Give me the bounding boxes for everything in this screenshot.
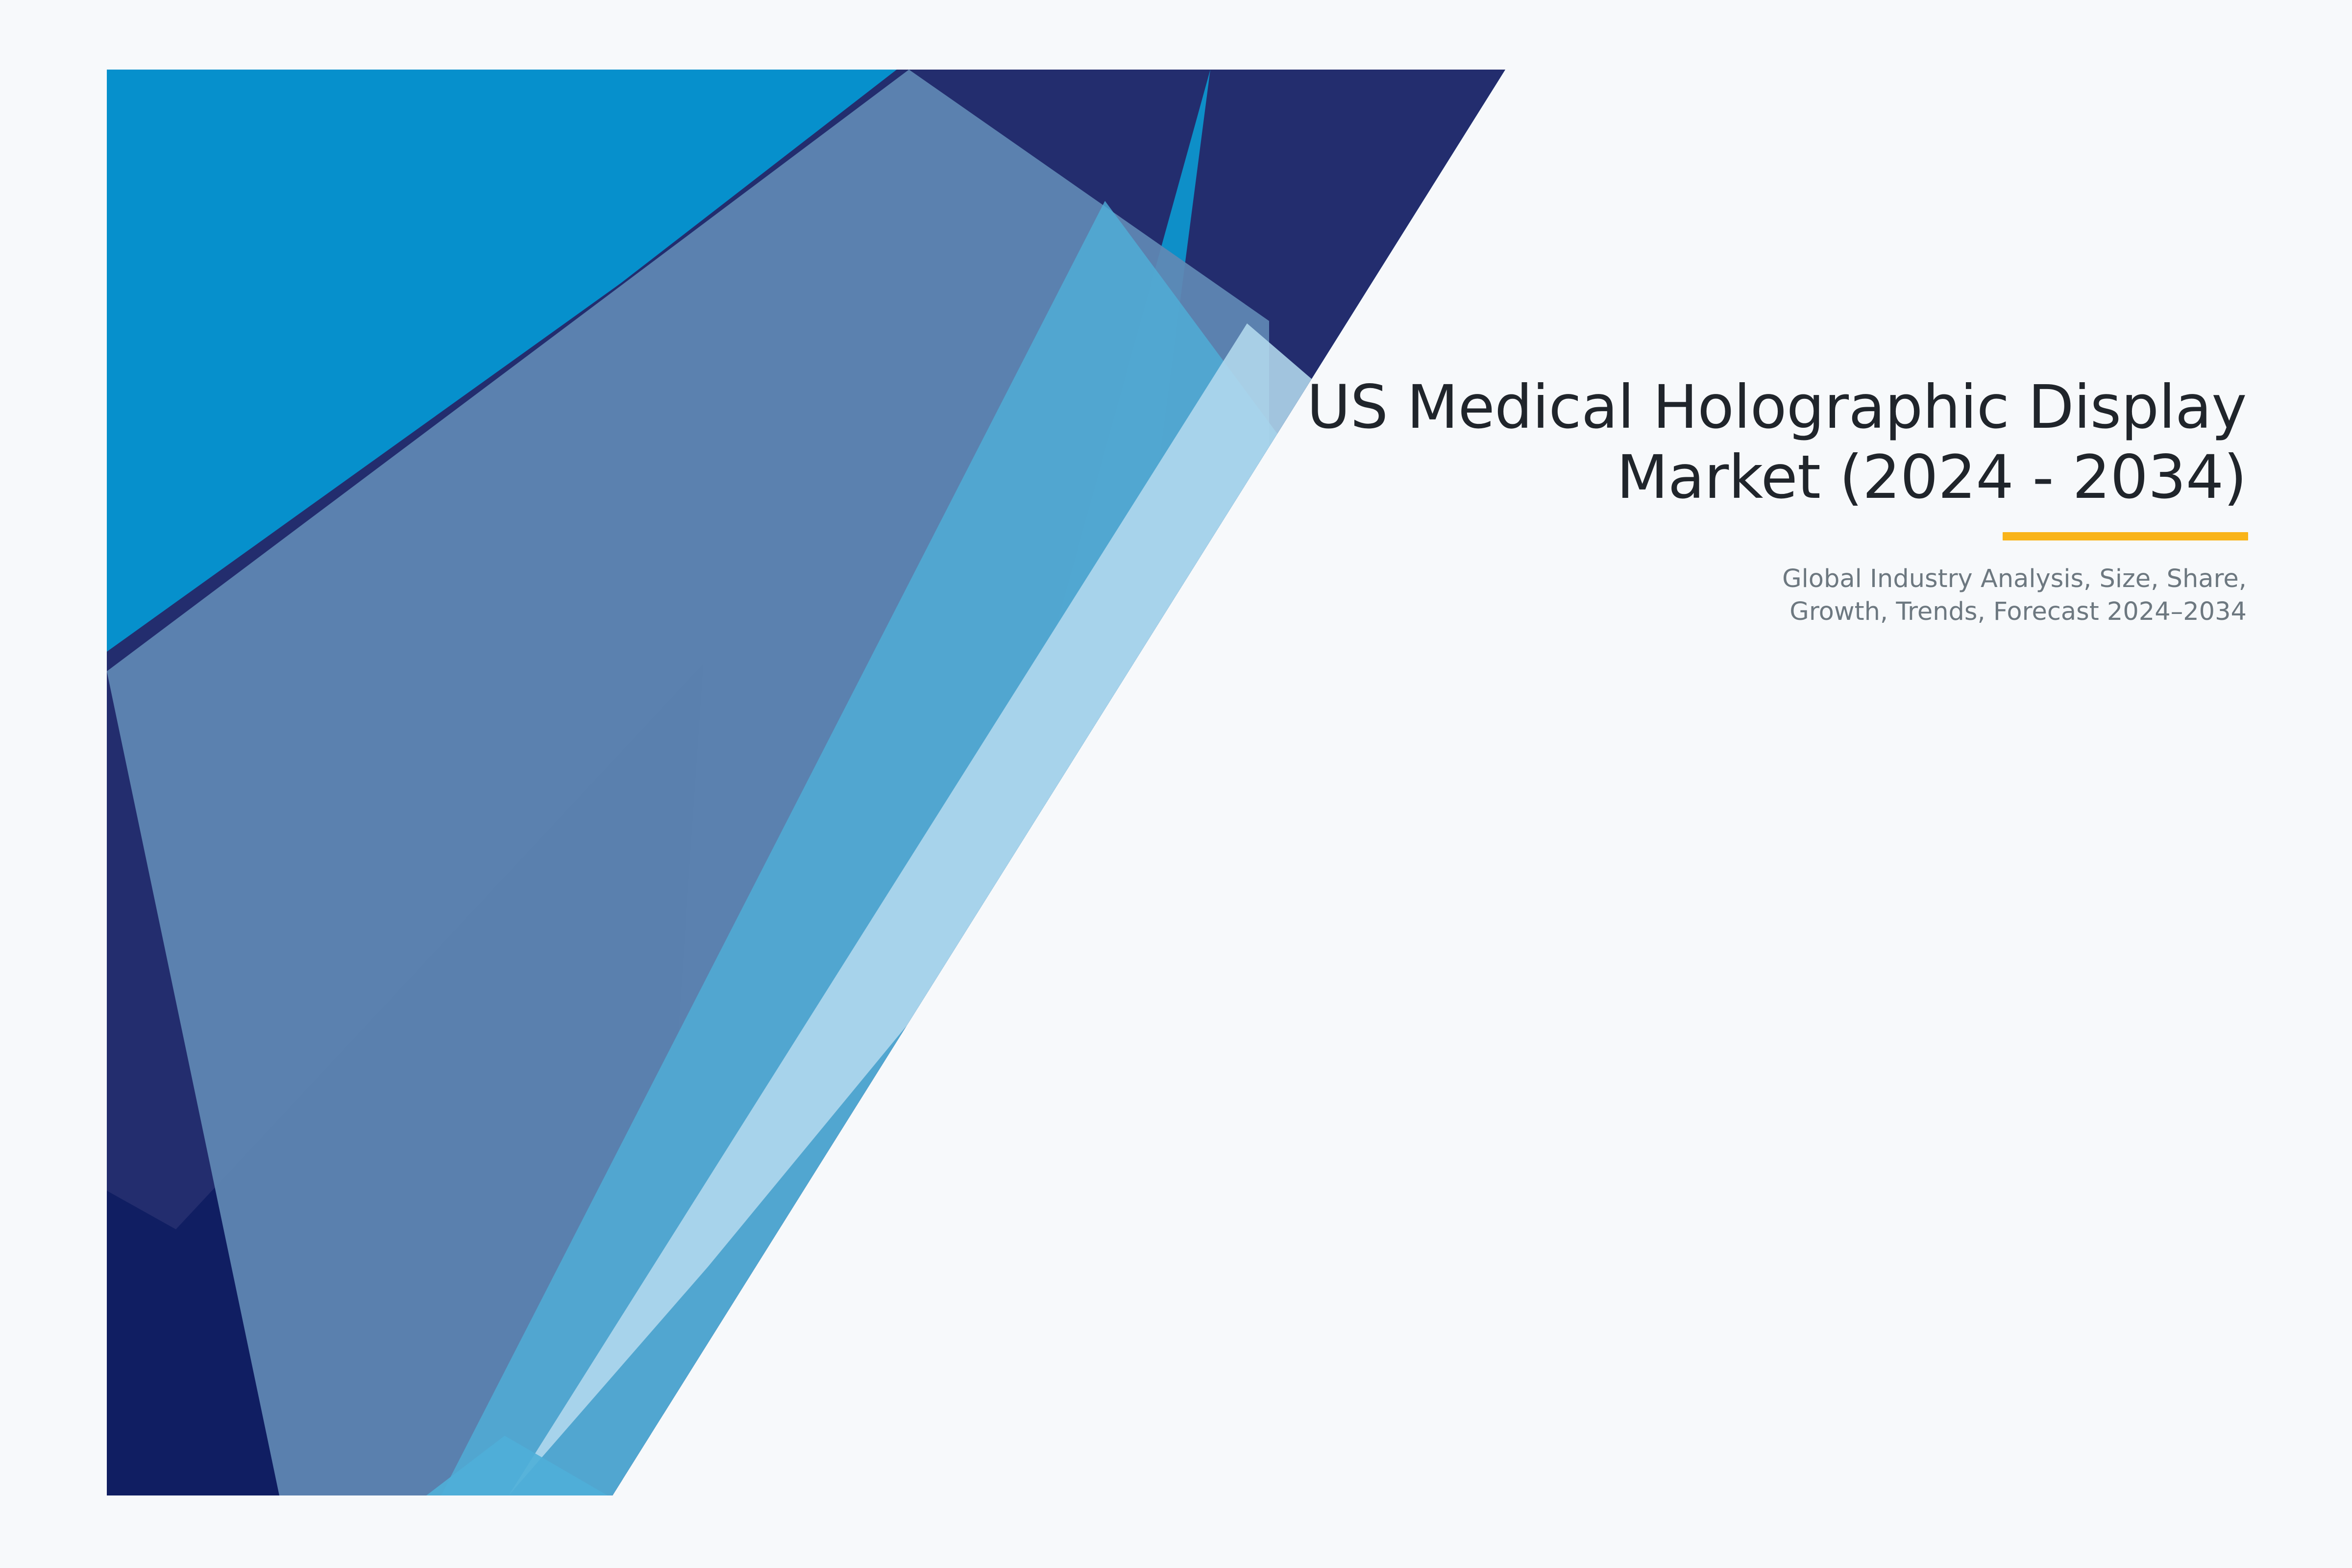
page-subtitle: Global Industry Analysis, Size, Share, G… [1029,512,2247,628]
page-title: US Medical Holographic Display Market (2… [1029,372,2247,512]
abstract-geometric-artwork [0,0,2352,1568]
report-cover: US Medical Holographic Display Market (2… [0,0,2352,1568]
title-wrapper: US Medical Holographic Display Market (2… [1029,372,2247,512]
cover-text-block: US Medical Holographic Display Market (2… [1029,372,2247,628]
title-accent-underline [2003,532,2248,540]
